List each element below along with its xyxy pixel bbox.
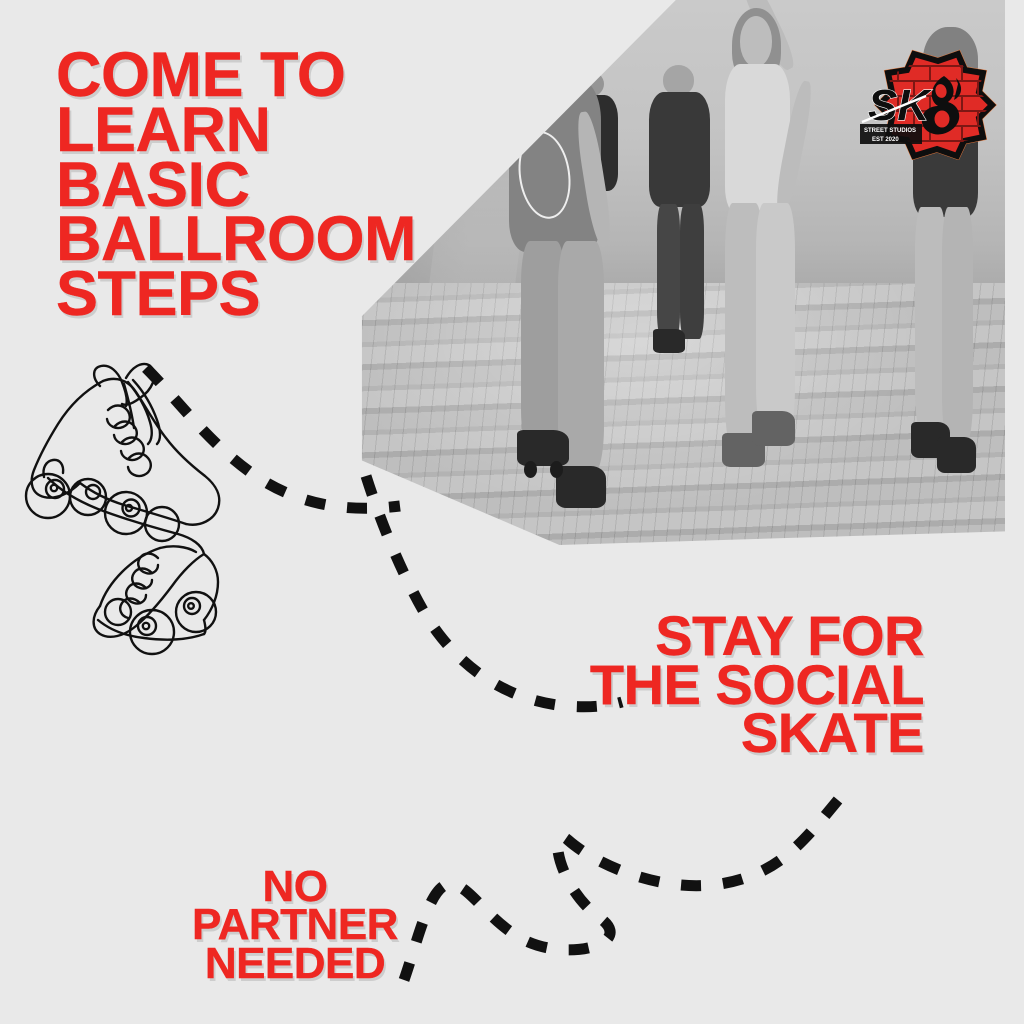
roller-skate [937,437,976,473]
roller-skate-illustration [26,364,219,654]
dashed-path-loop-to-no-partner [404,800,838,980]
skater-figure-partner [686,5,866,539]
headline-no-partner: NO PARTNER NEEDED [180,868,410,983]
logo-tagline-line1: STREET STUDIOS [864,128,916,134]
headline-social-skate: STAY FOR THE SOCIAL SKATE [494,612,924,758]
sk8-logo[interactable]: SK STREET STUDIOS EST 2020 [852,48,1000,160]
dashed-path-skate-to-photo [146,368,400,508]
logo-tagline-line2: EST 2020 [872,137,899,143]
skater-figure-instructor [480,16,666,539]
headline-social-line-3: SKATE [494,709,924,758]
logo-tagline: STREET STUDIOS EST 2020 [860,124,922,144]
headline-main: COME TO LEARN BASIC BALLROOM STEPS [56,48,436,322]
headline-partner-line-3: NEEDED [180,945,410,983]
figure-leg-right [756,203,796,433]
roller-skate [752,411,795,446]
skate-wheel [524,461,537,478]
figure-leg-right [942,207,973,443]
sk8-logo-icon: SK STREET STUDIOS EST 2020 [852,48,1000,160]
headline-main-line-5: STEPS [56,267,436,322]
roller-skate [517,430,569,467]
promo-poster: SK STREET STUDIOS EST 2020 [0,0,1024,1024]
figure-headwrap [530,22,576,59]
figure-head [740,16,772,67]
roller-skate [556,466,606,508]
figure-head [535,32,570,84]
logo-wordmark: SK [862,81,932,130]
figure-arm-raised [506,16,563,100]
